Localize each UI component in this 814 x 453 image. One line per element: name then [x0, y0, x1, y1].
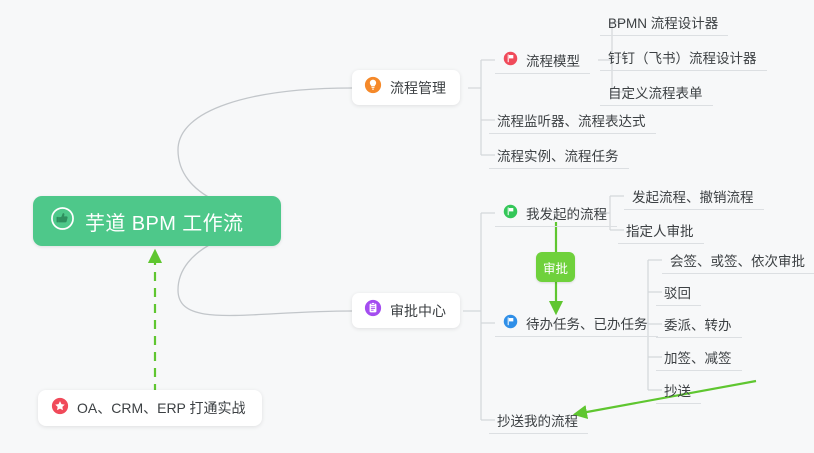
leaf-node-todo-tasks[interactable]: 待办任务、已办任务: [495, 309, 658, 337]
leaf-node-process-listener[interactable]: 流程监听器、流程表达式: [489, 106, 656, 134]
leaf-node-multi-sign[interactable]: 会签、或签、依次审批: [662, 246, 814, 274]
leaf-node-process-model[interactable]: 流程模型: [495, 46, 590, 74]
branch-label-approval-center: 审批中心: [390, 301, 446, 321]
leaf-label-assignee-approval: 指定人审批: [626, 220, 694, 240]
leaf-label-todo-tasks: 待办任务、已办任务: [526, 313, 648, 333]
leaf-node-dingtalk-designer[interactable]: 钉钉（飞书）流程设计器: [600, 43, 767, 71]
leaf-label-process-model: 流程模型: [526, 50, 580, 70]
leaf-label-my-initiated: 我发起的流程: [526, 203, 607, 223]
leaf-node-custom-form[interactable]: 自定义流程表单: [600, 78, 713, 106]
callout-node-integration[interactable]: OA、CRM、ERP 打通实战: [38, 390, 262, 426]
leaf-node-reject[interactable]: 驳回: [656, 278, 701, 306]
flag-icon-green: [503, 204, 518, 222]
leaf-label-start-cancel-process: 发起流程、撤销流程: [632, 186, 754, 206]
branch-node-process-management[interactable]: 流程管理: [352, 70, 460, 105]
leaf-label-custom-form: 自定义流程表单: [608, 82, 703, 102]
leaf-label-bpmn-designer: BPMN 流程设计器: [608, 12, 718, 32]
thumbs-up-icon: [51, 207, 74, 235]
lightbulb-icon: [364, 76, 382, 99]
approval-badge: 审批: [536, 252, 575, 282]
leaf-label-reject: 驳回: [664, 282, 691, 302]
leaf-node-assignee-approval[interactable]: 指定人审批: [618, 216, 704, 244]
root-label: 芋道 BPM 工作流: [85, 207, 243, 236]
leaf-node-my-initiated[interactable]: 我发起的流程: [495, 199, 617, 227]
leaf-label-multi-sign: 会签、或签、依次审批: [670, 250, 805, 270]
leaf-label-delegate-transfer: 委派、转办: [664, 314, 732, 334]
leaf-node-add-remove-sign[interactable]: 加签、减签: [656, 343, 742, 371]
approval-badge-label: 审批: [543, 258, 568, 277]
leaf-label-dingtalk-designer: 钉钉（飞书）流程设计器: [608, 47, 757, 67]
leaf-label-add-remove-sign: 加签、减签: [664, 347, 732, 367]
leaf-node-start-cancel-process[interactable]: 发起流程、撤销流程: [624, 182, 764, 210]
callout-label-integration: OA、CRM、ERP 打通实战: [77, 398, 246, 418]
leaf-node-delegate-transfer[interactable]: 委派、转办: [656, 310, 742, 338]
leaf-label-process-listener: 流程监听器、流程表达式: [497, 110, 646, 130]
leaf-node-bpmn-designer[interactable]: BPMN 流程设计器: [600, 8, 728, 36]
flag-icon-blue: [503, 314, 518, 332]
leaf-node-process-instance[interactable]: 流程实例、流程任务: [489, 141, 629, 169]
star-icon: [51, 397, 69, 420]
leaf-node-carbon-copy[interactable]: 抄送: [656, 376, 701, 404]
leaf-node-cc-to-me[interactable]: 抄送我的流程: [489, 406, 588, 434]
clipboard-icon: [364, 299, 382, 322]
branch-label-process-management: 流程管理: [390, 78, 446, 98]
mindmap-canvas: 芋道 BPM 工作流 流程管理 审批中心: [0, 0, 814, 453]
leaf-label-carbon-copy: 抄送: [664, 380, 691, 400]
branch-node-approval-center[interactable]: 审批中心: [352, 293, 460, 328]
leaf-label-cc-to-me: 抄送我的流程: [497, 410, 578, 430]
leaf-label-process-instance: 流程实例、流程任务: [497, 145, 619, 165]
root-node[interactable]: 芋道 BPM 工作流: [33, 196, 281, 246]
flag-icon-red: [503, 51, 518, 69]
